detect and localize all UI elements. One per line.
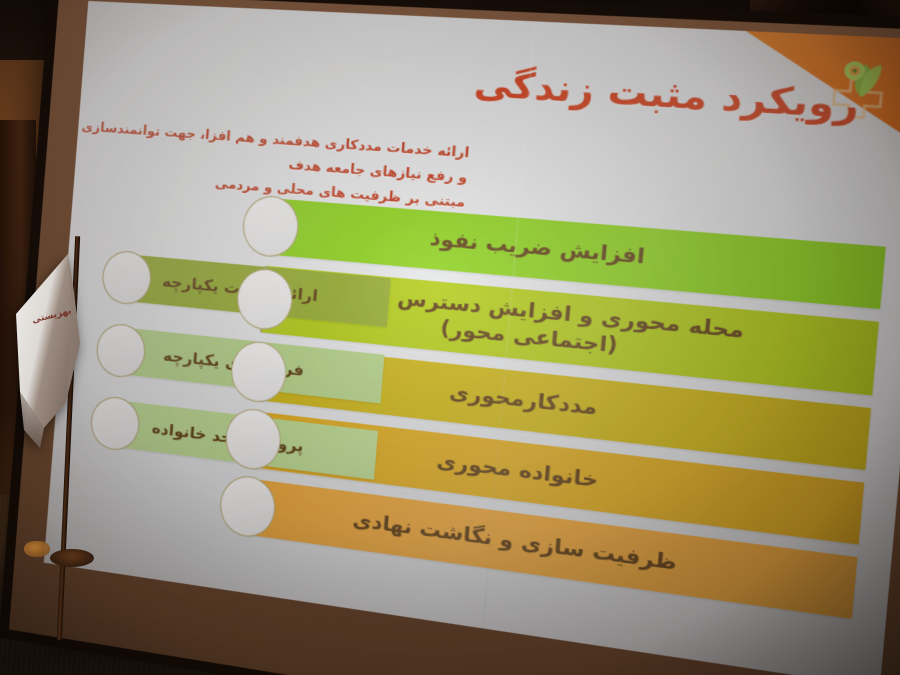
flag-cloth xyxy=(10,252,96,452)
presentation-slide: رویکرد مثبت زندگی ارائه خدمات مددکاری هد… xyxy=(44,1,900,675)
floor-object xyxy=(24,541,50,557)
photo-scene: رویکرد مثبت زندگی ارائه خدمات مددکاری هد… xyxy=(0,0,900,675)
flag-stand-base xyxy=(50,549,94,567)
projector-screen: رویکرد مثبت زندگی ارائه خدمات مددکاری هد… xyxy=(9,0,900,675)
slide-title: رویکرد مثبت زندگی xyxy=(357,54,862,132)
